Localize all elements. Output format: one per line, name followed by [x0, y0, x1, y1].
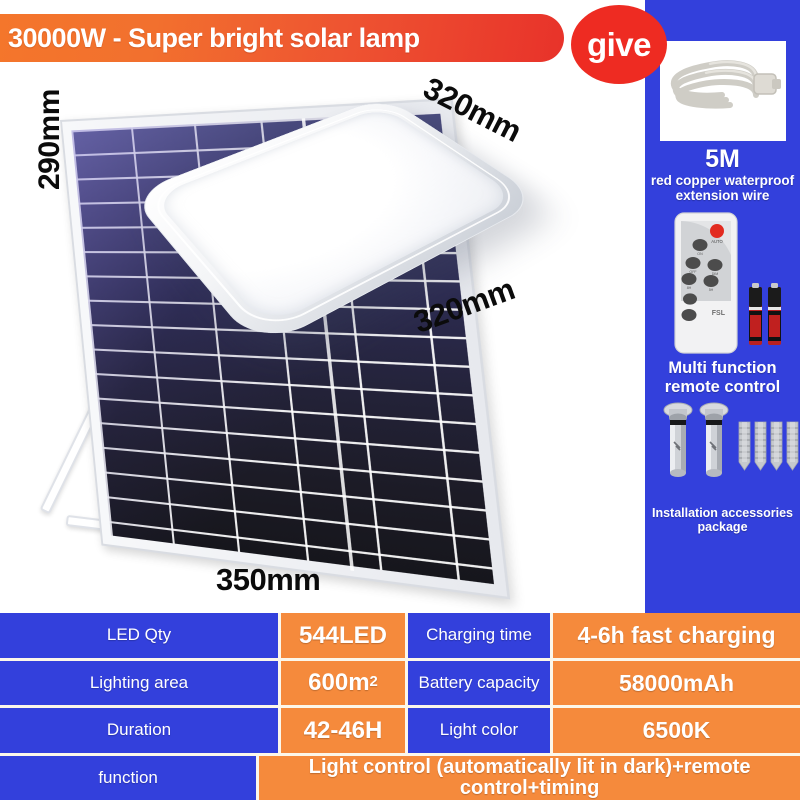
svg-text:DIM: DIM: [712, 272, 719, 276]
spec-label-led-qty: LED Qty: [0, 613, 278, 658]
lighting-area-number: 600m: [308, 670, 369, 695]
accessories-sidebar: 5M red copper waterproofextension wire A…: [645, 0, 800, 613]
svg-text:AUTO: AUTO: [711, 239, 723, 244]
spec-value-battery-capacity: 58000mAh: [553, 661, 800, 706]
extension-wire-caption: red copper waterproofextension wire: [647, 173, 799, 203]
spec-label-function: function: [0, 756, 256, 800]
spec-value-charging-time: 4-6h fast charging: [553, 613, 800, 658]
installation-accessories-icon: [645, 398, 800, 506]
remote-control-caption: Multi functionremote control: [645, 359, 800, 395]
installation-accessories-caption: Installation accessoriespackage: [645, 506, 800, 534]
give-badge: give: [571, 5, 667, 84]
spec-label-charging-time: Charging time: [408, 613, 550, 658]
spec-value-lighting-area: 600m2: [281, 661, 405, 706]
table-row: LED Qty 544LED Charging time 4-6h fast c…: [0, 613, 800, 661]
spec-value-led-qty: 544LED: [281, 613, 405, 658]
spec-value-light-color: 6500K: [553, 708, 800, 753]
dimension-label-panel-width: 350mm: [216, 562, 320, 598]
product-image-area: 290mm 320mm 320mm 350mm: [0, 0, 660, 613]
spec-value-duration: 42-46H: [281, 708, 405, 753]
specification-table: LED Qty 544LED Charging time 4-6h fast c…: [0, 613, 800, 800]
table-row: function Light control (automatically li…: [0, 756, 800, 800]
table-row: Lighting area 600m2 Battery capacity 580…: [0, 661, 800, 709]
lighting-area-superscript: 2: [370, 675, 378, 691]
give-badge-label: give: [587, 26, 651, 64]
svg-text:ON: ON: [697, 252, 703, 256]
spec-label-light-color: Light color: [408, 708, 550, 753]
page-title: 30000W - Super bright solar lamp: [8, 23, 420, 54]
svg-text:5H: 5H: [709, 288, 714, 292]
solar-lamp: [140, 62, 610, 362]
title-banner: 30000W - Super bright solar lamp: [0, 14, 564, 62]
remote-control-icon: AUTO ON OFF DIM 8H 5H: [645, 209, 800, 361]
spec-label-duration: Duration: [0, 708, 278, 753]
spec-value-function: Light control (automatically lit in dark…: [259, 756, 800, 800]
spec-label-battery-capacity: Battery capacity: [408, 661, 550, 706]
extension-wire-icon: [660, 41, 786, 141]
svg-text:OFF: OFF: [689, 270, 697, 274]
extension-wire-length: 5M: [705, 146, 740, 172]
spec-label-lighting-area: Lighting area: [0, 661, 278, 706]
product-infographic: 290mm 320mm 320mm 350mm 30000W - Super b…: [0, 0, 800, 800]
dimension-label-panel-height: 290mm: [33, 89, 67, 190]
svg-text:FSL: FSL: [712, 310, 726, 317]
table-row: Duration 42-46H Light color 6500K: [0, 708, 800, 756]
svg-text:8H: 8H: [687, 286, 692, 290]
